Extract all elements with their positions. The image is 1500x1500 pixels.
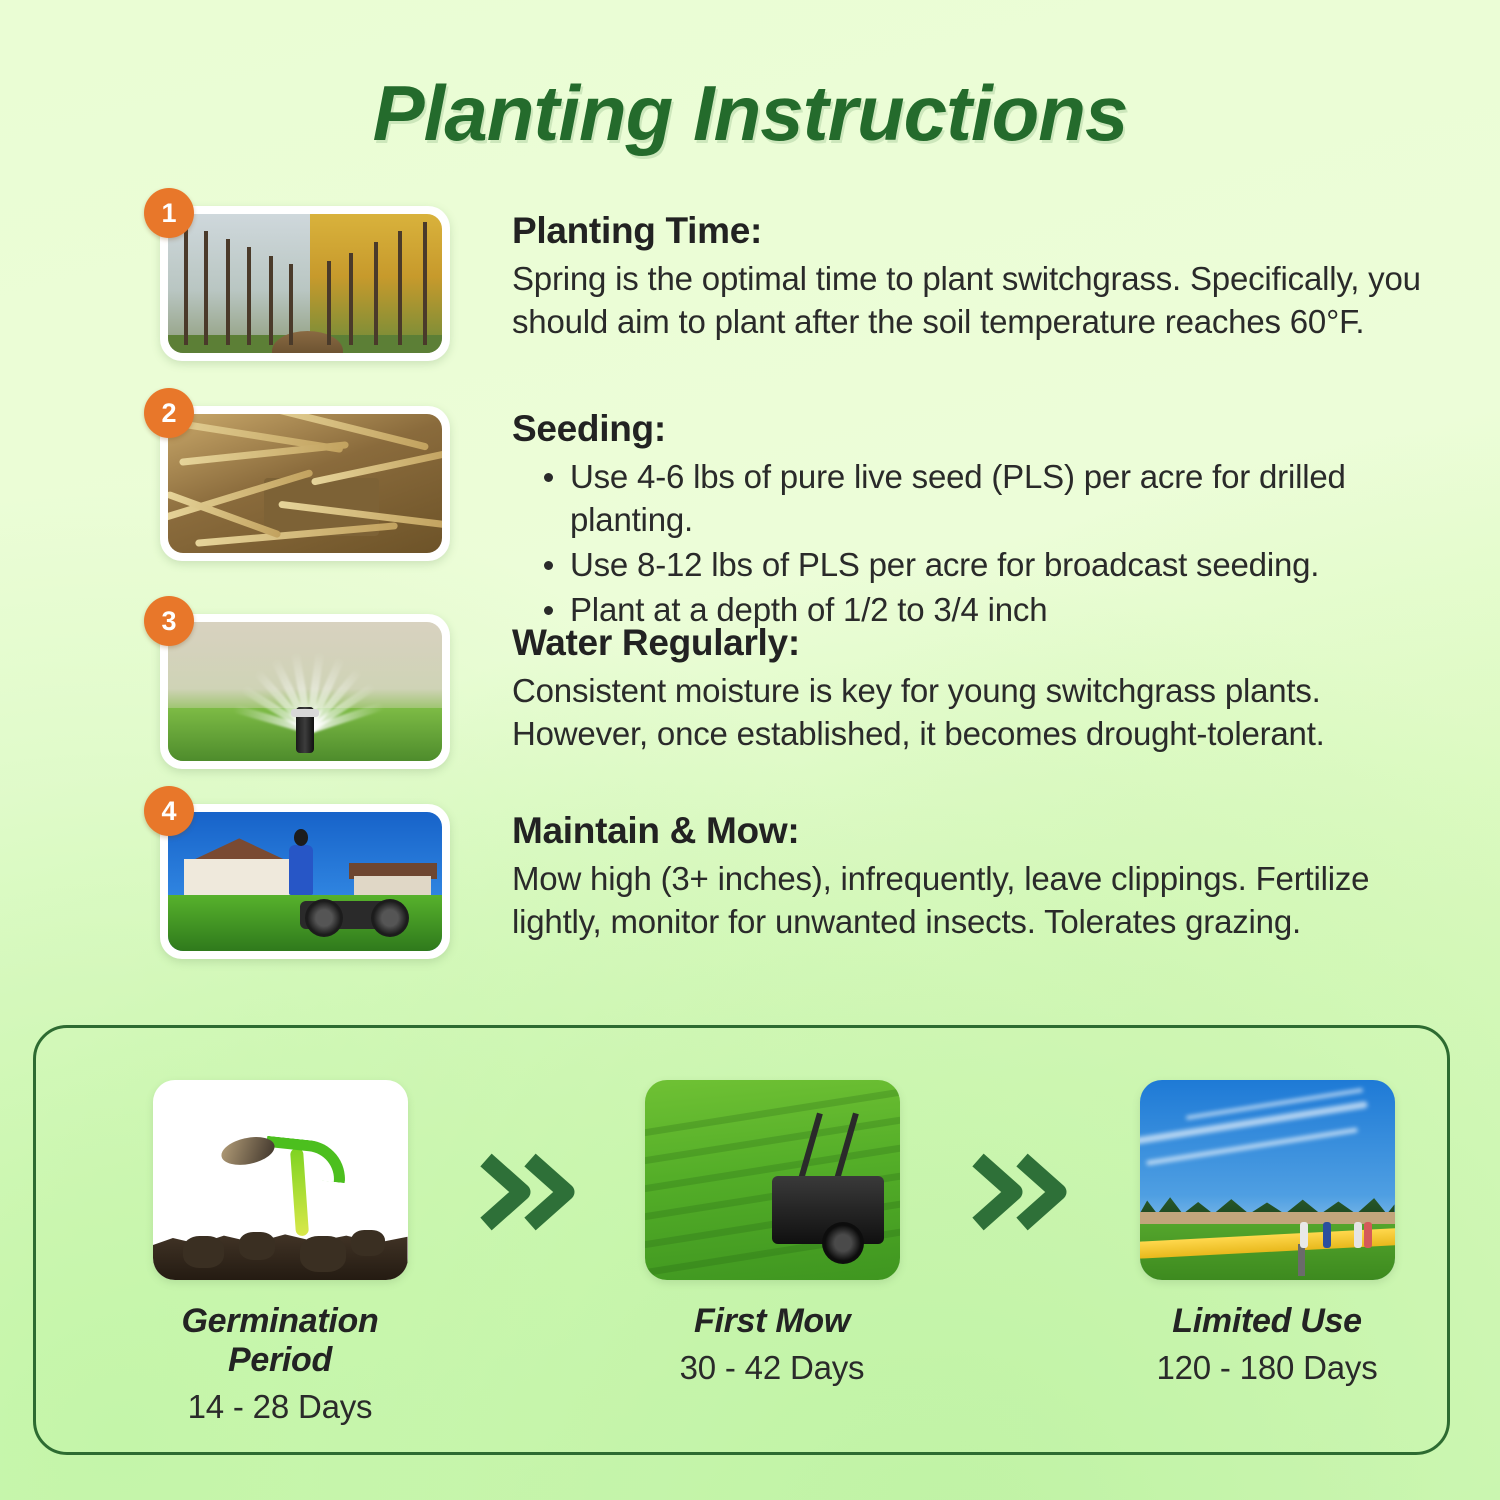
list-item: Use 4-6 lbs of pure live seed (PLS) per … xyxy=(570,456,1462,542)
timeline-item-germination: Germination Period 14 - 28 Days xyxy=(135,1080,425,1426)
timeline-item-limited-use: Limited Use 120 - 180 Days xyxy=(1122,1080,1412,1387)
step-3-body: Consistent moisture is key for young swi… xyxy=(512,670,1462,756)
double-chevron-right-icon xyxy=(478,1150,578,1239)
timeline-value: 14 - 28 Days xyxy=(135,1388,425,1426)
step-2-thumbnail: 2 xyxy=(160,406,450,561)
step-1-number-badge: 1 xyxy=(144,188,194,238)
step-4-body: Mow high (3+ inches), infrequently, leav… xyxy=(512,858,1462,944)
step-4-thumbnail: 4 xyxy=(160,804,450,959)
seedling-photo xyxy=(153,1080,408,1280)
timeline-value: 120 - 180 Days xyxy=(1122,1349,1412,1387)
timeline-label: Limited Use xyxy=(1122,1302,1412,1341)
seeding-bullet-list: Use 4-6 lbs of pure live seed (PLS) per … xyxy=(512,456,1462,632)
step-4-number-badge: 4 xyxy=(144,786,194,836)
straw-mulch-photo xyxy=(168,414,442,553)
infographic-page: Planting Instructions 1 xyxy=(0,0,1500,1500)
double-chevron-right-icon xyxy=(970,1150,1070,1239)
ball-field-photo xyxy=(1140,1080,1395,1280)
mowing-photo xyxy=(168,812,442,951)
step-1-thumbnail: 1 xyxy=(160,206,450,361)
step-1-body: Spring is the optimal time to plant swit… xyxy=(512,258,1462,344)
step-4-heading: Maintain & Mow: xyxy=(512,810,1462,852)
sprinkler-photo xyxy=(168,622,442,761)
step-3-number-badge: 3 xyxy=(144,596,194,646)
step-3-thumbnail: 3 xyxy=(160,614,450,769)
mower-field-photo xyxy=(645,1080,900,1280)
page-title: Planting Instructions xyxy=(0,68,1500,159)
timeline-value: 30 - 42 Days xyxy=(627,1349,917,1387)
step-2-heading: Seeding: xyxy=(512,408,1462,450)
step-2-number-badge: 2 xyxy=(144,388,194,438)
timeline-label: Germination Period xyxy=(135,1302,425,1380)
tree-avenue-photo xyxy=(168,214,442,353)
timeline-item-first-mow: First Mow 30 - 42 Days xyxy=(627,1080,917,1387)
step-3-heading: Water Regularly: xyxy=(512,622,1462,664)
list-item: Use 8-12 lbs of PLS per acre for broadca… xyxy=(570,544,1462,587)
timeline-label: First Mow xyxy=(627,1302,917,1341)
step-1-heading: Planting Time: xyxy=(512,210,1462,252)
